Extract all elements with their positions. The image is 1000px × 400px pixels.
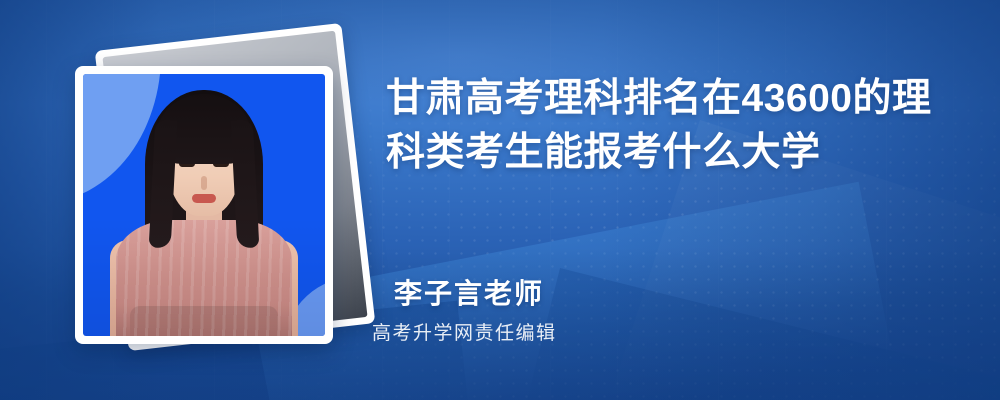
article-header-banner: 甘肃高考理科排名在43600的理科类考生能报考什么大学 李子言老师 高考升学网责…	[0, 0, 1000, 400]
author-role: 高考升学网责任编辑	[372, 318, 557, 345]
author-name: 李子言老师	[394, 272, 544, 312]
portrait-photo	[83, 74, 325, 336]
author-photo-stack	[45, 18, 355, 378]
banner-text-block: 甘肃高考理科排名在43600的理科类考生能报考什么大学 李子言老师 高考升学网责…	[386, 0, 976, 400]
page-title: 甘肃高考理科排名在43600的理科类考生能报考什么大学	[386, 72, 946, 180]
photo-card-front	[75, 66, 333, 344]
portrait-shading	[83, 74, 325, 336]
portrait-figure	[83, 74, 325, 336]
